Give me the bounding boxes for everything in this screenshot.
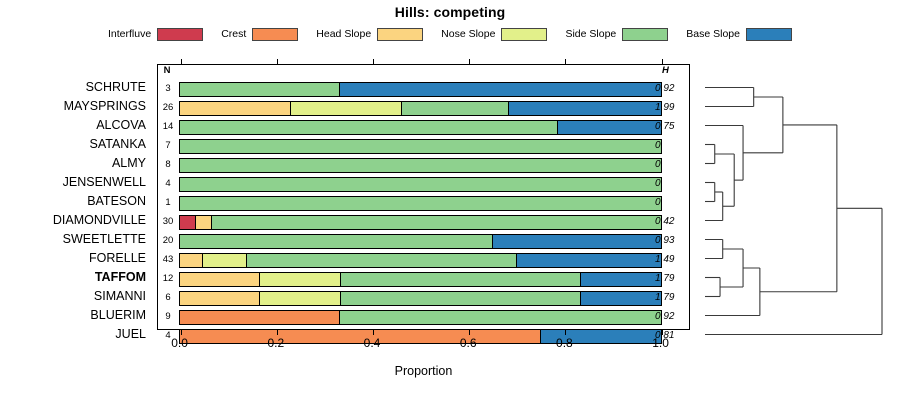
bar-segment-side-slope[interactable]	[341, 273, 582, 286]
legend-label: Interfluve	[108, 28, 151, 40]
x-tick-top	[277, 59, 278, 65]
x-tick-bottom	[181, 329, 182, 335]
row-n-value: 8	[158, 155, 178, 174]
row-h-value: 0.93	[651, 231, 691, 250]
row-h-value: 0.92	[651, 79, 691, 98]
y-axis-label: ALCOVA	[0, 116, 146, 135]
bar-segment-side-slope[interactable]	[212, 216, 661, 229]
bar-segment-head-slope[interactable]	[180, 273, 260, 286]
bar-segment-side-slope[interactable]	[180, 121, 558, 134]
row-h-value: 0	[651, 193, 691, 212]
bar-segment-crest[interactable]	[180, 311, 340, 324]
row-n-value: 4	[158, 174, 178, 193]
stacked-bar[interactable]	[179, 310, 662, 325]
y-axis-label: TAFFOM	[0, 268, 146, 287]
y-axis-label: ALMY	[0, 154, 146, 173]
bar-segment-side-slope[interactable]	[180, 235, 493, 248]
row-h-value: 1.99	[651, 98, 691, 117]
row-n-value: 20	[158, 231, 178, 250]
y-axis-labels: SCHRUTEMAYSPRINGSALCOVASATANKAALMYJENSEN…	[0, 64, 152, 330]
stacked-bar[interactable]	[179, 196, 662, 211]
bar-segment-side-slope[interactable]	[340, 311, 661, 324]
y-axis-label: SCHRUTE	[0, 78, 146, 97]
stacked-bar[interactable]	[179, 177, 662, 192]
y-axis-label: DIAMONDVILLE	[0, 211, 146, 230]
bar-segment-side-slope[interactable]	[180, 178, 661, 191]
x-tick-label: 0.8	[544, 336, 584, 350]
stacked-bar[interactable]	[179, 291, 662, 306]
row-n-value: 30	[158, 212, 178, 231]
y-axis-label: MAYSPRINGS	[0, 97, 146, 116]
row-h-value: 1.49	[651, 250, 691, 269]
legend-label: Side Slope	[565, 28, 616, 40]
bar-segment-interfluve[interactable]	[180, 216, 196, 229]
bar-segment-nose-slope[interactable]	[260, 273, 340, 286]
row-n-value: 1	[158, 193, 178, 212]
stacked-bar[interactable]	[179, 101, 662, 116]
x-tick-label: 0.6	[448, 336, 488, 350]
plot-area: 30.92261.99140.7570804010300.42200.93431…	[157, 64, 690, 330]
bar-segment-head-slope[interactable]	[196, 216, 212, 229]
legend-label: Base Slope	[686, 28, 740, 40]
x-tick-top	[469, 59, 470, 65]
bar-segment-head-slope[interactable]	[180, 102, 291, 115]
row-h-value: 0	[651, 155, 691, 174]
legend-swatch	[377, 28, 423, 41]
x-tick-top	[565, 59, 566, 65]
x-tick-bottom	[373, 329, 374, 335]
legend-item-side-slope[interactable]: Side Slope	[565, 28, 668, 41]
chart-row: 200.93	[158, 231, 691, 250]
y-axis-label: FORELLE	[0, 249, 146, 268]
chart-row: 40	[158, 174, 691, 193]
legend-item-head-slope[interactable]: Head Slope	[316, 28, 423, 41]
row-h-value: 1.79	[651, 288, 691, 307]
chart-row: 10	[158, 193, 691, 212]
chart-row: 61.79	[158, 288, 691, 307]
legend-swatch	[746, 28, 792, 41]
row-n-value: 12	[158, 269, 178, 288]
bar-segment-base-slope[interactable]	[581, 292, 661, 305]
bar-segment-base-slope[interactable]	[581, 273, 661, 286]
chart-row: 300.42	[158, 212, 691, 231]
bar-segment-side-slope[interactable]	[341, 292, 582, 305]
legend-item-base-slope[interactable]: Base Slope	[686, 28, 792, 41]
row-n-value: 9	[158, 307, 178, 326]
chart-row: 431.49	[158, 250, 691, 269]
bar-segment-base-slope[interactable]	[509, 102, 661, 115]
stacked-bar[interactable]	[179, 139, 662, 154]
column-header-h: H	[658, 65, 698, 76]
legend-swatch	[622, 28, 668, 41]
row-n-value: 26	[158, 98, 178, 117]
y-axis-label: BLUERIM	[0, 306, 146, 325]
chart-row: 140.75	[158, 117, 691, 136]
bar-segment-base-slope[interactable]	[558, 121, 661, 134]
x-tick-top	[373, 59, 374, 65]
row-h-value: 0.42	[651, 212, 691, 231]
bar-segment-nose-slope[interactable]	[260, 292, 340, 305]
y-axis-label: SIMANNI	[0, 287, 146, 306]
bar-segment-head-slope[interactable]	[180, 292, 260, 305]
legend-swatch	[501, 28, 547, 41]
bar-segment-side-slope[interactable]	[180, 159, 661, 172]
bar-segment-base-slope[interactable]	[493, 235, 661, 248]
row-h-value: 0.75	[651, 117, 691, 136]
legend-item-nose-slope[interactable]: Nose Slope	[441, 28, 547, 41]
chart-row: 90.92	[158, 307, 691, 326]
bar-segment-base-slope[interactable]	[517, 254, 661, 267]
row-h-value: 0	[651, 174, 691, 193]
column-header-n: N	[157, 65, 177, 76]
bar-segment-side-slope[interactable]	[247, 254, 516, 267]
x-tick-bottom	[469, 329, 470, 335]
legend-label: Nose Slope	[441, 28, 495, 40]
legend-label: Crest	[221, 28, 246, 40]
x-tick-bottom	[662, 329, 663, 335]
bar-segment-nose-slope[interactable]	[291, 102, 402, 115]
row-n-value: 6	[158, 288, 178, 307]
legend-item-crest[interactable]: Crest	[221, 28, 298, 41]
row-n-value: 14	[158, 117, 178, 136]
chart-row: 30.92	[158, 79, 691, 98]
x-tick-label: 0.0	[160, 336, 200, 350]
row-h-value: 0.92	[651, 307, 691, 326]
stacked-bar[interactable]	[179, 215, 662, 230]
stacked-bar[interactable]	[179, 82, 662, 97]
x-axis-title: Proportion	[157, 364, 690, 378]
bar-segment-side-slope[interactable]	[402, 102, 509, 115]
y-axis-label: BATESON	[0, 192, 146, 211]
chart-row: 121.79	[158, 269, 691, 288]
x-tick-label: 0.2	[256, 336, 296, 350]
row-n-value: 3	[158, 79, 178, 98]
chart-row: 80	[158, 155, 691, 174]
x-tick-top	[181, 59, 182, 65]
stacked-bar[interactable]	[179, 234, 662, 249]
stacked-bar[interactable]	[179, 253, 662, 268]
stacked-bar[interactable]	[179, 120, 662, 135]
row-h-value: 1.79	[651, 269, 691, 288]
x-tick-label: 0.4	[352, 336, 392, 350]
row-h-value: 0	[651, 136, 691, 155]
bar-segment-side-slope[interactable]	[180, 83, 340, 96]
page-title: Hills: competing	[0, 4, 900, 20]
dendrogram	[700, 60, 896, 350]
y-axis-label: SATANKA	[0, 135, 146, 154]
legend-item-interfluve[interactable]: Interfluve	[108, 28, 203, 41]
bar-segment-nose-slope[interactable]	[203, 254, 248, 267]
legend-label: Head Slope	[316, 28, 371, 40]
chart-root: Hills: competing InterfluveCrestHead Slo…	[0, 0, 900, 400]
x-tick-bottom	[565, 329, 566, 335]
stacked-bar[interactable]	[179, 272, 662, 287]
y-axis-label: SWEETLETTE	[0, 230, 146, 249]
row-n-value: 7	[158, 136, 178, 155]
bar-segment-side-slope[interactable]	[180, 140, 661, 153]
x-tick-label: 1.0	[641, 336, 681, 350]
legend-swatch	[252, 28, 298, 41]
bar-segment-head-slope[interactable]	[180, 254, 203, 267]
chart-row: 261.99	[158, 98, 691, 117]
dendrogram-svg	[700, 60, 896, 350]
bar-segment-base-slope[interactable]	[340, 83, 661, 96]
row-n-value: 43	[158, 250, 178, 269]
bar-segment-side-slope[interactable]	[180, 197, 661, 210]
legend-swatch	[157, 28, 203, 41]
chart-row: 70	[158, 136, 691, 155]
stacked-bar[interactable]	[179, 158, 662, 173]
y-axis-label: JENSENWELL	[0, 173, 146, 192]
legend: InterfluveCrestHead SlopeNose SlopeSide …	[0, 24, 900, 44]
x-tick-bottom	[277, 329, 278, 335]
